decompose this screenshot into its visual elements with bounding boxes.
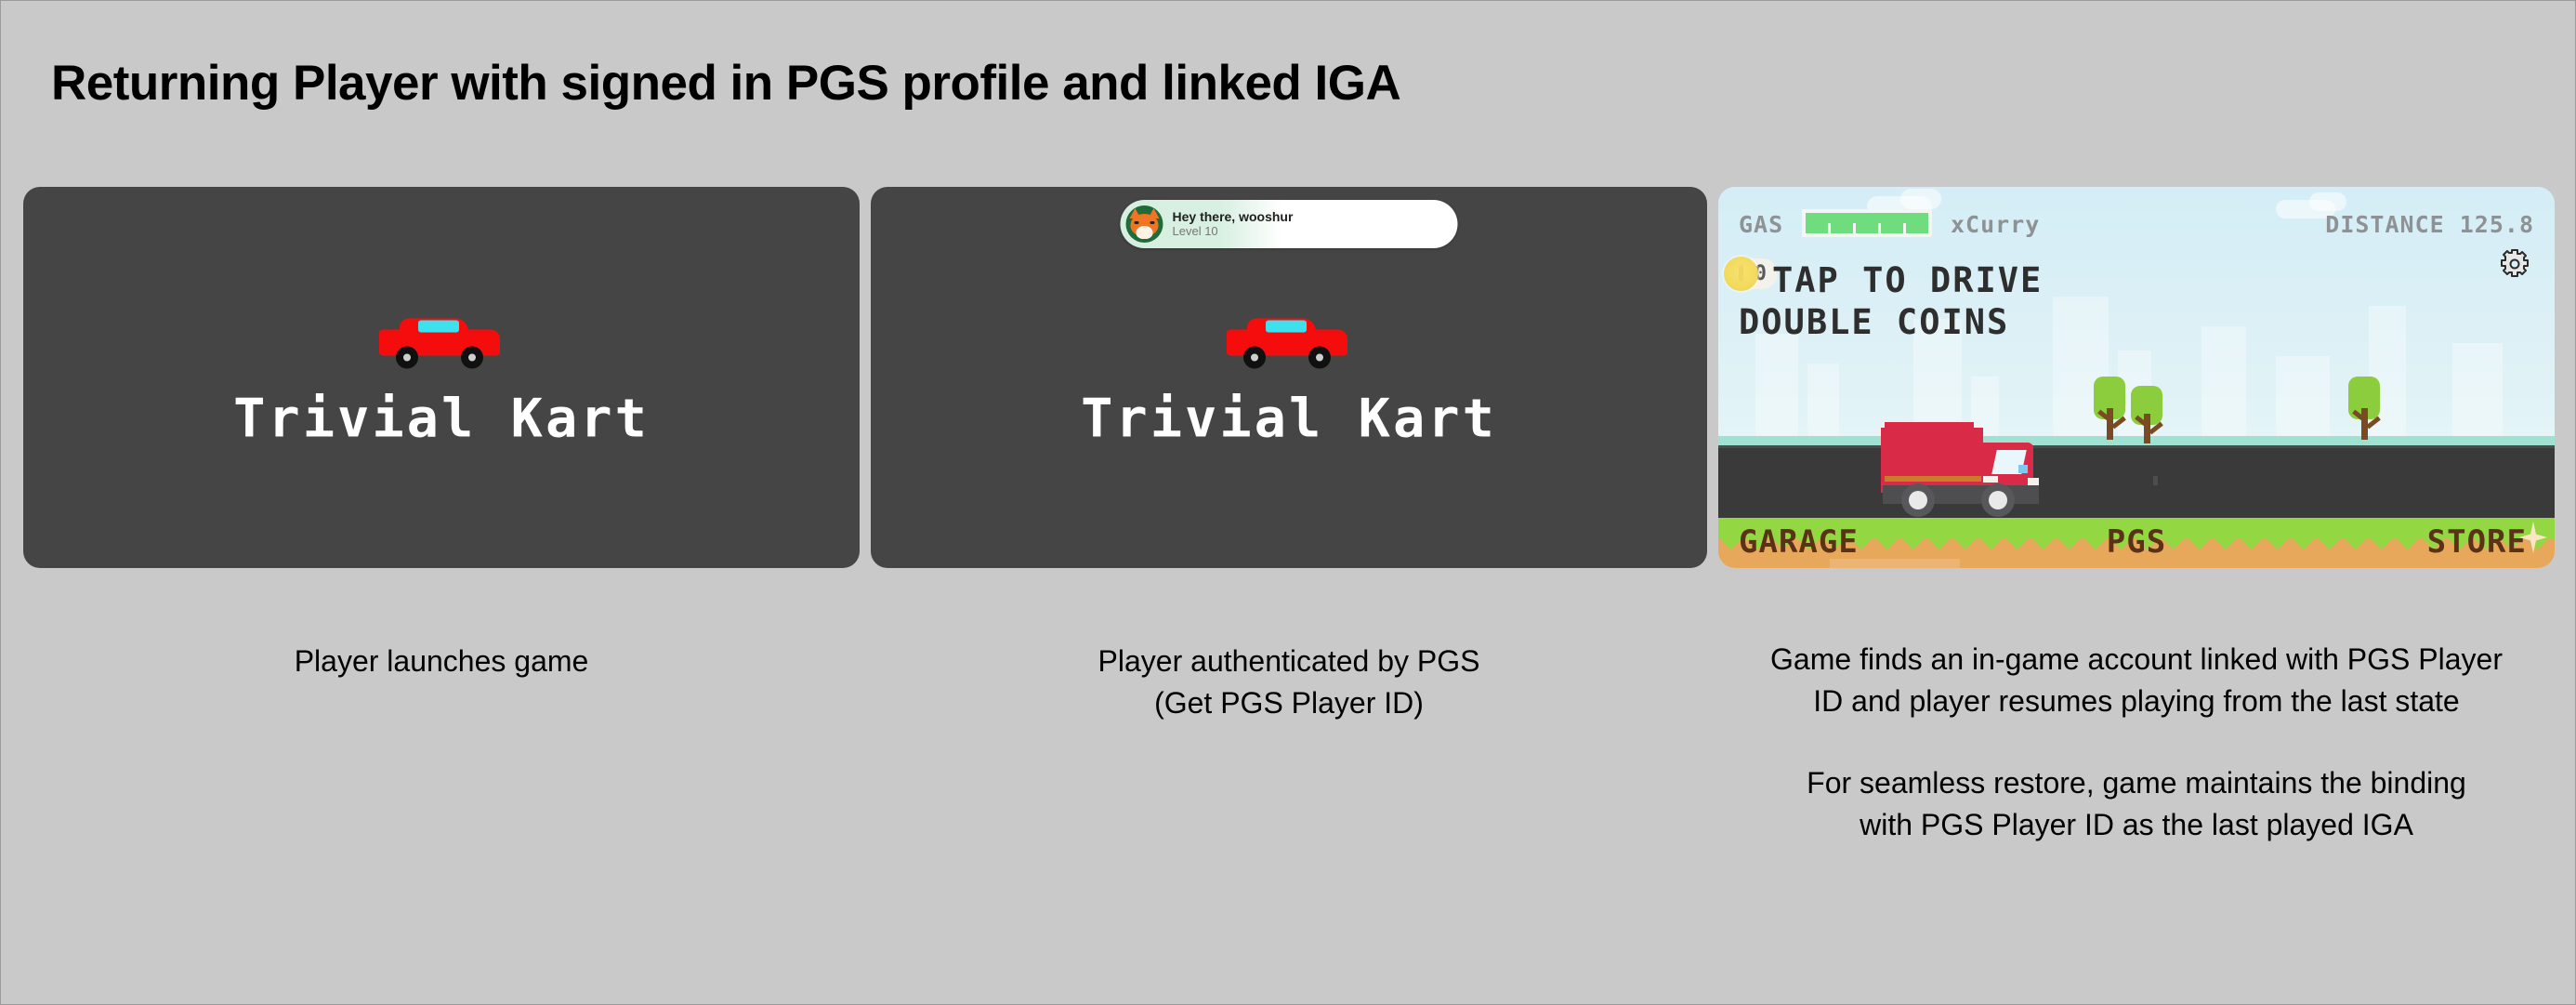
caption-paragraph-2: For seamless restore, game maintains the… xyxy=(1718,762,2555,847)
page-title: Returning Player with signed in PGS prof… xyxy=(51,55,1400,112)
gear-icon[interactable] xyxy=(2499,248,2530,280)
caption-panel-3: Game finds an in-game account linked wit… xyxy=(1718,639,2555,847)
caption-panel-2: Player authenticated by PGS (Get PGS Pla… xyxy=(871,641,1707,725)
pgs-greeting: Hey there, wooshur xyxy=(1173,210,1294,225)
tap-line-1: TAP TO DRIVE xyxy=(1772,259,2043,301)
red-car-icon xyxy=(372,310,511,373)
panel-launch-splash: Trivial Kart xyxy=(23,187,860,568)
splash-content: Trivial Kart xyxy=(23,310,860,446)
coin-icon xyxy=(1724,257,1758,291)
red-car-icon xyxy=(1219,310,1359,373)
gas-bar xyxy=(1802,209,1932,237)
player-username: xCurry xyxy=(1951,211,2040,238)
nav-garage[interactable]: GARAGE xyxy=(1739,523,1859,561)
tree-icon xyxy=(2094,377,2125,440)
caption-text-line-2: (Get PGS Player ID) xyxy=(871,682,1707,724)
panel-pgs-signin: Hey there, wooshur Level 10 Trivial Kart xyxy=(871,187,1707,568)
pgs-level: Level 10 xyxy=(1173,225,1294,239)
nav-pgs[interactable]: PGS xyxy=(2107,523,2166,561)
pgs-signin-toast[interactable]: Hey there, wooshur Level 10 xyxy=(1121,200,1458,248)
splash-content: Trivial Kart xyxy=(871,310,1707,446)
road xyxy=(1718,445,2555,523)
tree-icon xyxy=(2348,377,2380,440)
coin-badge: 20 xyxy=(1724,257,1778,291)
caption-text: Player launches game xyxy=(23,641,860,682)
panel-gameplay: GAS xCurry DISTANCE 125.8 20 TAP TO DRIV… xyxy=(1718,187,2555,568)
game-title: Trivial Kart xyxy=(23,393,860,446)
tree-icon xyxy=(2131,386,2162,443)
pgs-toast-text: Hey there, wooshur Level 10 xyxy=(1173,210,1294,238)
game-scene: GAS xCurry DISTANCE 125.8 20 TAP TO DRIV… xyxy=(1718,187,2555,568)
nav-store[interactable]: STORE xyxy=(2427,523,2527,561)
game-title: Trivial Kart xyxy=(871,393,1707,446)
player-truck xyxy=(1881,422,2046,522)
distance-readout: DISTANCE 125.8 xyxy=(2325,211,2534,238)
tap-to-drive-overlay[interactable]: TAP TO DRIVE DOUBLE COINS xyxy=(1772,259,2043,343)
tap-line-2: DOUBLE COINS xyxy=(1739,301,2043,343)
avatar xyxy=(1126,205,1163,243)
caption-panel-1: Player launches game xyxy=(23,641,860,682)
caption-paragraph-1: Game finds an in-game account linked wit… xyxy=(1718,639,2555,723)
gas-label: GAS xyxy=(1739,211,1783,238)
caption-text-line-1: Player authenticated by PGS xyxy=(871,641,1707,682)
